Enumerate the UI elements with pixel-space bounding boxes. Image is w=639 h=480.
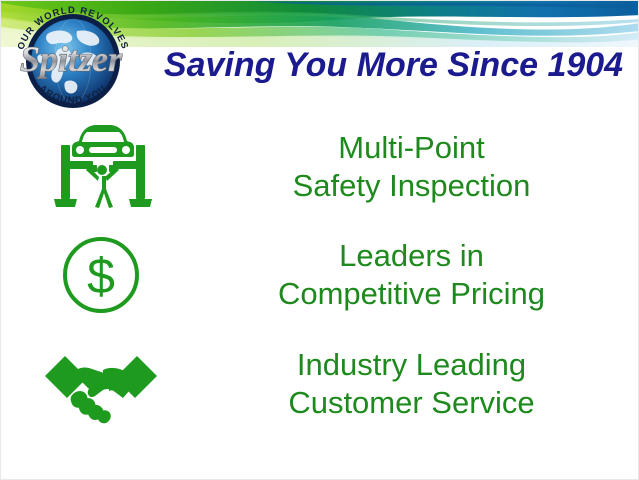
feature-line-1: Leaders in xyxy=(201,237,622,275)
feature-row-inspection: Multi-Point Safety Inspection xyxy=(1,113,639,221)
feature-row-service: Industry Leading Customer Service xyxy=(1,329,639,439)
promo-slide: OUR WORLD REVOLVES AROUND YOU Spitzer Sa… xyxy=(0,0,639,480)
car-lift-icon xyxy=(49,121,153,213)
feature-text-pricing: Leaders in Competitive Pricing xyxy=(201,237,639,313)
dollar-circle-icon-wrap: $ xyxy=(1,232,201,318)
spitzer-logo[interactable]: OUR WORLD REVOLVES AROUND YOU Spitzer xyxy=(5,3,139,119)
handshake-icon xyxy=(43,338,159,430)
feature-line-2: Safety Inspection xyxy=(201,167,622,205)
car-lift-icon-wrap xyxy=(1,121,201,213)
page-title: Saving You More Since 1904 xyxy=(164,48,623,82)
feature-line-2: Competitive Pricing xyxy=(201,275,622,313)
feature-line-1: Multi-Point xyxy=(201,129,622,167)
handshake-icon-wrap xyxy=(1,338,201,430)
feature-text-inspection: Multi-Point Safety Inspection xyxy=(201,129,639,205)
feature-line-2: Customer Service xyxy=(201,384,622,422)
feature-line-1: Industry Leading xyxy=(201,346,622,384)
logo-wordmark: Spitzer xyxy=(20,39,123,79)
headline-banner: Saving You More Since 1904 xyxy=(151,43,636,87)
feature-list: Multi-Point Safety Inspection $ Leaders … xyxy=(1,113,639,439)
feature-text-service: Industry Leading Customer Service xyxy=(201,346,639,422)
svg-text:$: $ xyxy=(87,248,115,304)
feature-row-pricing: $ Leaders in Competitive Pricing xyxy=(1,221,639,329)
dollar-circle-icon: $ xyxy=(58,232,144,318)
